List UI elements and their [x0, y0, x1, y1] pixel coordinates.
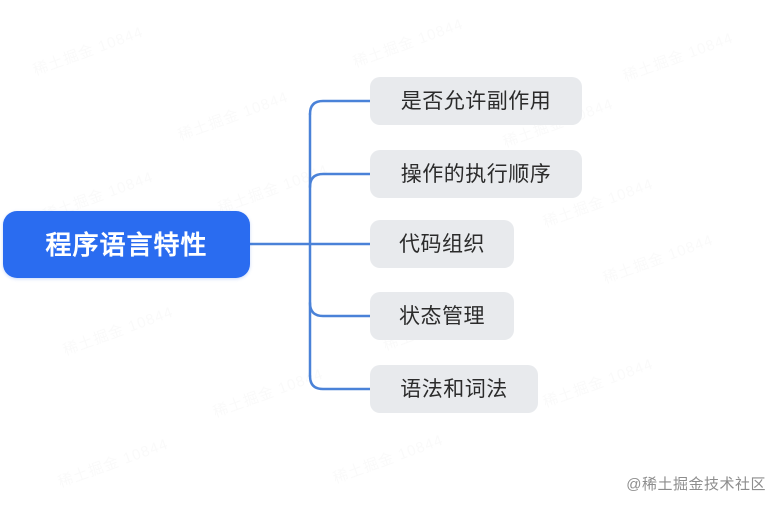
watermark-tile: 稀土掘金 10844 [30, 21, 146, 80]
mindmap-child-node-3[interactable]: 代码组织 [370, 220, 514, 268]
child-node-label: 语法和词法 [400, 379, 508, 400]
root-node-label: 程序语言特性 [45, 232, 207, 258]
watermark-tile: 稀土掘金 10844 [175, 86, 291, 145]
connector-branch-5 [310, 376, 370, 389]
connector-branch-2 [310, 174, 370, 187]
child-node-label: 是否允许副作用 [401, 91, 552, 112]
watermark-tile: 稀土掘金 10844 [60, 301, 176, 360]
watermark-tile: 稀土掘金 10844 [540, 353, 656, 412]
mindmap-root-node[interactable]: 程序语言特性 [3, 211, 250, 278]
connector-branch-4 [310, 303, 370, 316]
child-node-label: 操作的执行顺序 [401, 164, 552, 185]
mindmap-canvas: 稀土掘金 10844 稀土掘金 10844 稀土掘金 10844 稀土掘金 10… [0, 0, 780, 508]
watermark-tile: 稀土掘金 10844 [620, 27, 736, 86]
mindmap-child-node-1[interactable]: 是否允许副作用 [370, 77, 582, 125]
watermark-tile: 稀土掘金 10844 [215, 159, 331, 218]
watermark-tile: 稀土掘金 10844 [210, 363, 326, 422]
connector-branch-1 [310, 101, 370, 114]
watermark-tile: 稀土掘金 10844 [55, 433, 171, 492]
child-node-label: 状态管理 [399, 306, 485, 327]
watermark-tile: 稀土掘金 10844 [350, 13, 466, 72]
mindmap-child-node-5[interactable]: 语法和词法 [370, 365, 538, 413]
mindmap-child-node-4[interactable]: 状态管理 [370, 292, 514, 340]
mindmap-child-node-2[interactable]: 操作的执行顺序 [370, 150, 582, 198]
watermark-tile: 稀土掘金 10844 [330, 429, 446, 488]
watermark-tile: 稀土掘金 10844 [600, 229, 716, 288]
child-node-label: 代码组织 [399, 234, 485, 255]
credit-watermark: @稀土掘金技术社区 [626, 473, 766, 494]
